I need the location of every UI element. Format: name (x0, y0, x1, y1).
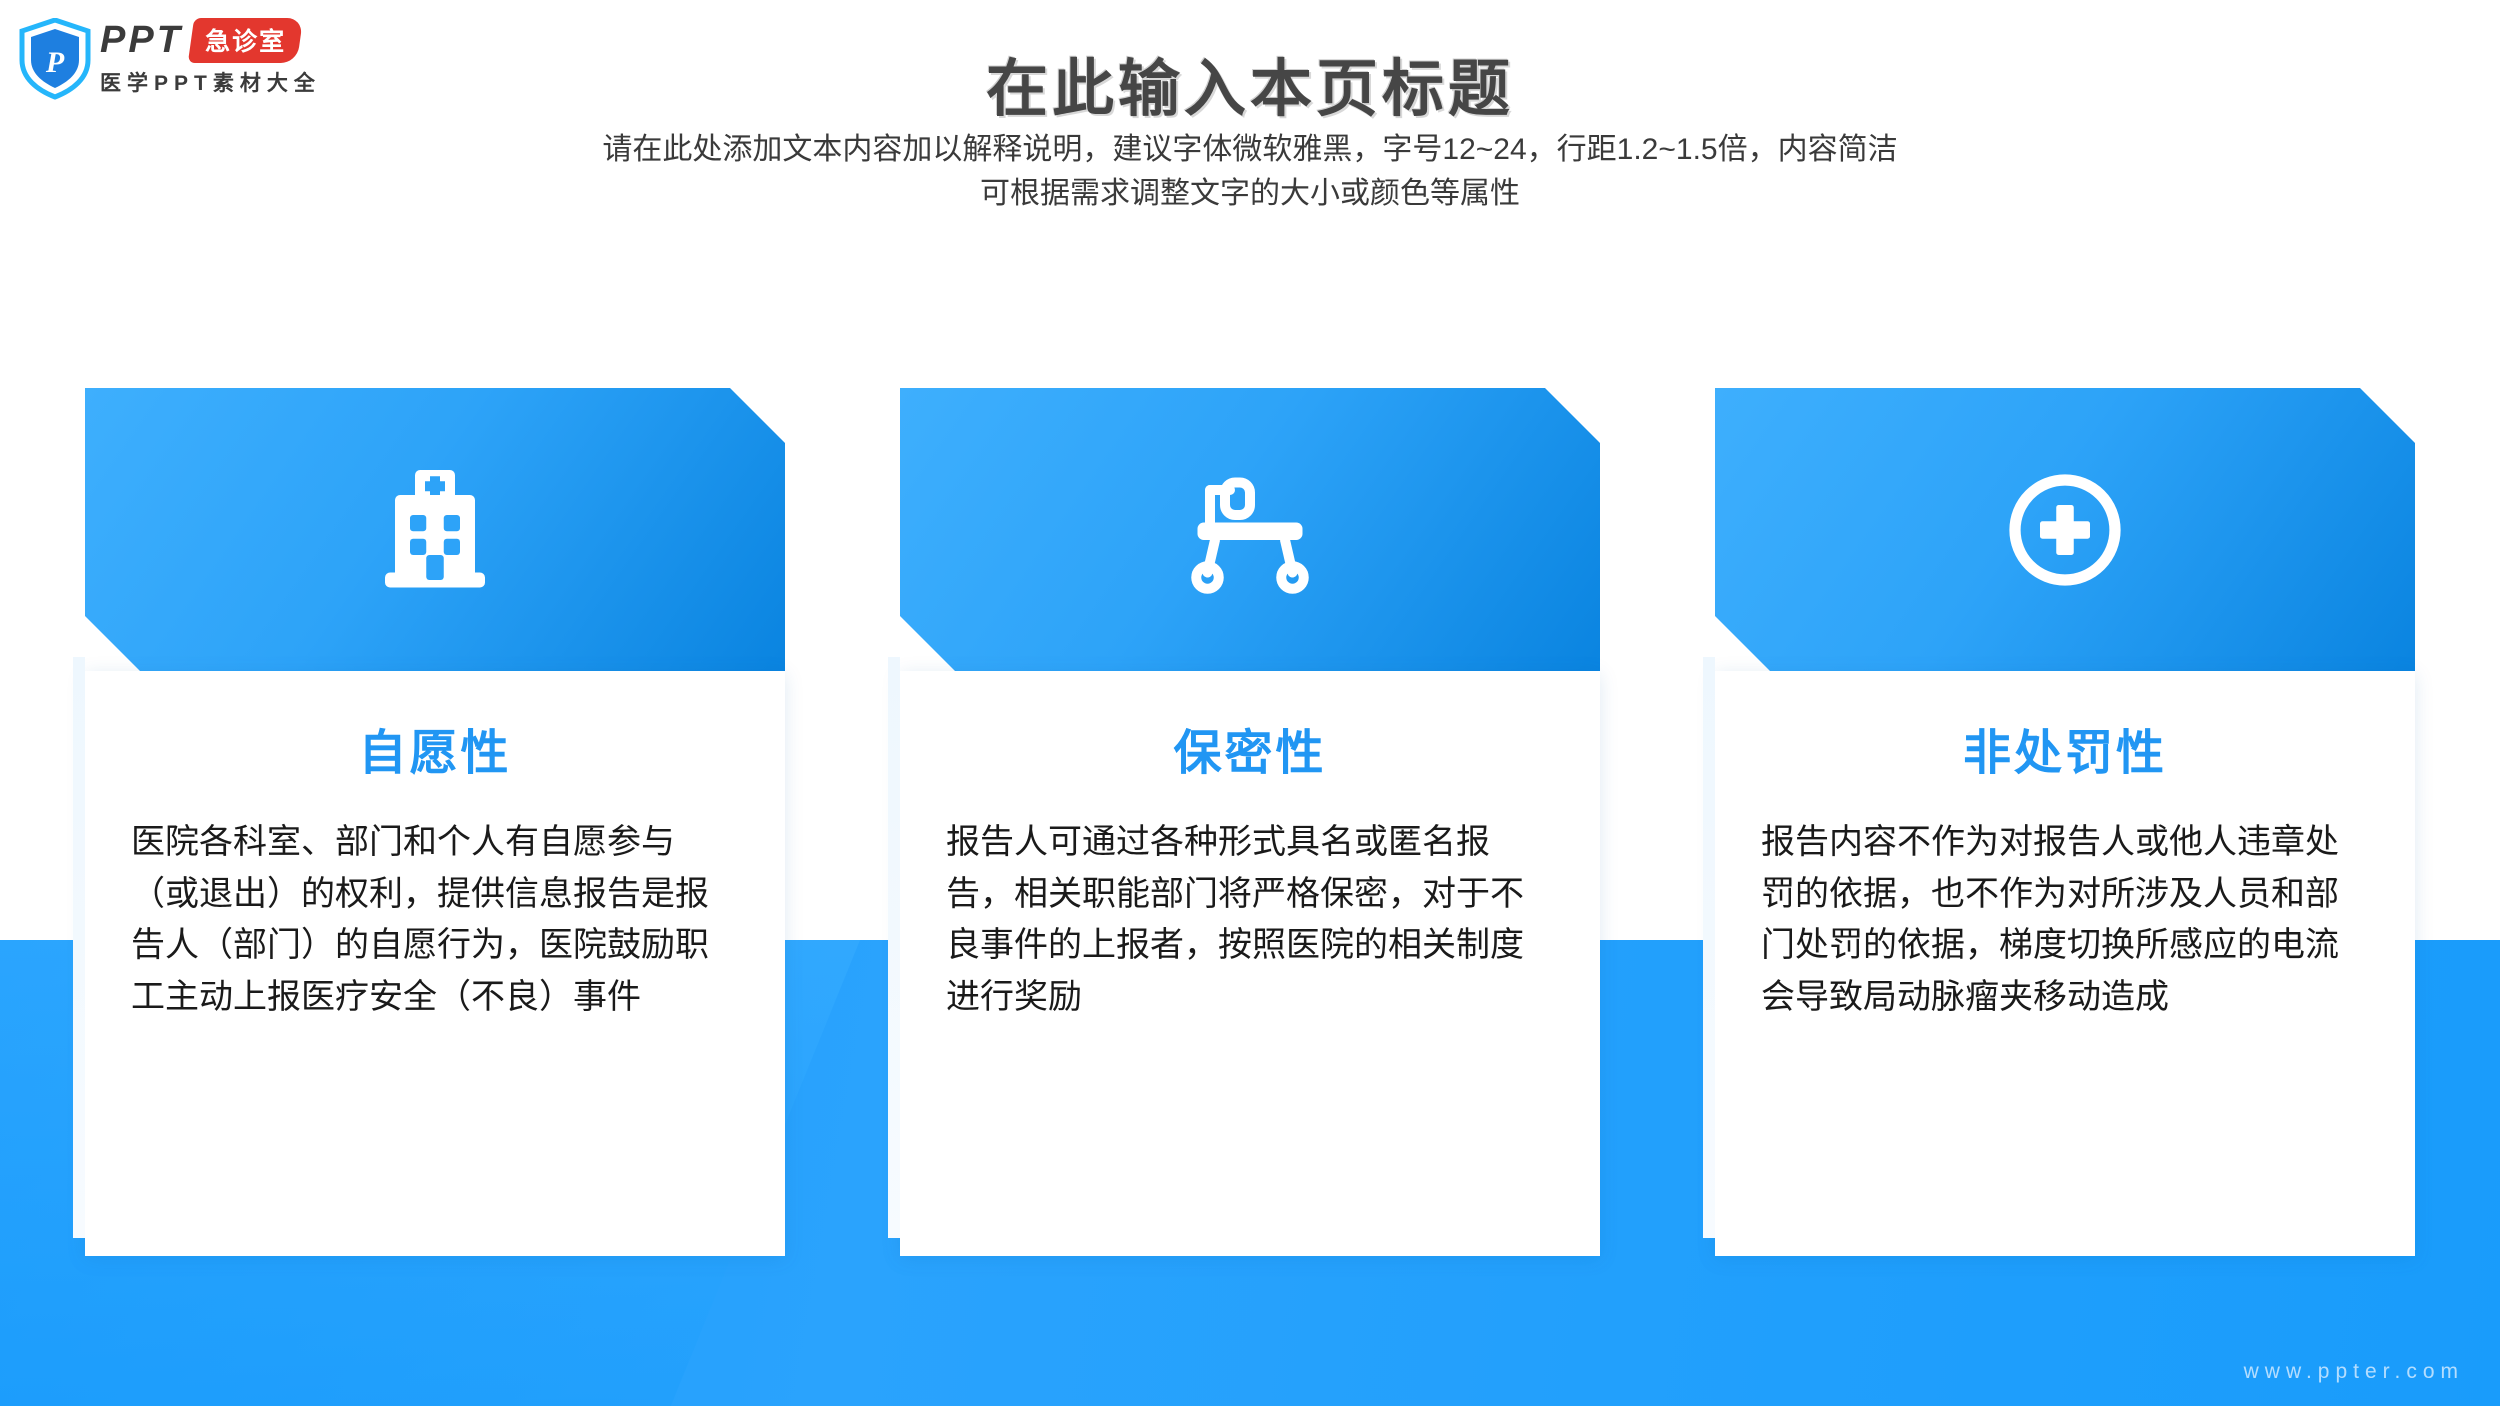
card-row: 自愿性 医院各科室、部门和个人有自愿参与（或退出）的权利，提供信息报告是报告人（… (0, 388, 2500, 1318)
logo-brand-word: PPT (100, 20, 183, 60)
card-title-3: 非处罚性 (1761, 713, 2369, 783)
logo-badge: 急诊室 (188, 18, 303, 63)
card-body-1: 自愿性 医院各科室、部门和个人有自愿参与（或退出）的权利，提供信息报告是报告人（… (85, 671, 785, 1256)
card-text-1: 医院各科室、部门和个人有自愿参与（或退出）的权利，提供信息报告是报告人（部门）的… (131, 817, 739, 1024)
card-body-2: 保密性 报告人可通过各种形式具名或匿名报告，相关职能部门将严格保密，对于不良事件… (900, 671, 1600, 1256)
logo-text-block: PPT 急诊室 医学PPT素材大全 (100, 18, 321, 97)
card-voluntary[interactable]: 自愿性 医院各科室、部门和个人有自愿参与（或退出）的权利，提供信息报告是报告人（… (85, 388, 785, 1318)
card-title-2: 保密性 (946, 713, 1554, 783)
card-title-1: 自愿性 (131, 713, 739, 783)
subtitle-line-2: 可根据需求调整文字的大小或颜色等属性 (0, 172, 2500, 216)
subtitle-line-1: 请在此处添加文本内容加以解释说明，建议字体微软雅黑，字号12~24，行距1.2~… (0, 128, 2500, 172)
svg-text:P: P (45, 46, 65, 79)
card-header-1 (85, 388, 785, 671)
shield-icon: P (18, 18, 92, 100)
card-confidential[interactable]: 保密性 报告人可通过各种形式具名或匿名报告，相关职能部门将严格保密，对于不良事件… (900, 388, 1600, 1318)
medical-cross-circle-icon (1990, 465, 2140, 595)
site-watermark: www.ppter.com (2244, 1360, 2464, 1384)
page-subtitle: 请在此处添加文本内容加以解释说明，建议字体微软雅黑，字号12~24，行距1.2~… (0, 128, 2500, 215)
brand-logo: P PPT 急诊室 医学PPT素材大全 (14, 16, 434, 102)
hospital-building-icon (360, 465, 510, 595)
card-text-3: 报告内容不作为对报告人或他人违章处罚的依据，也不作为对所涉及人员和部门处罚的依据… (1761, 817, 2369, 1024)
card-text-2: 报告人可通过各种形式具名或匿名报告，相关职能部门将严格保密，对于不良事件的上报者… (946, 817, 1554, 1024)
card-body-3: 非处罚性 报告内容不作为对报告人或他人违章处罚的依据，也不作为对所涉及人员和部门… (1715, 671, 2415, 1256)
card-header-2 (900, 388, 1600, 671)
card-non-punitive[interactable]: 非处罚性 报告内容不作为对报告人或他人违章处罚的依据，也不作为对所涉及人员和部门… (1715, 388, 2415, 1318)
logo-tagline: 医学PPT素材大全 (100, 67, 321, 97)
stretcher-icon (1175, 465, 1325, 595)
card-header-3 (1715, 388, 2415, 671)
